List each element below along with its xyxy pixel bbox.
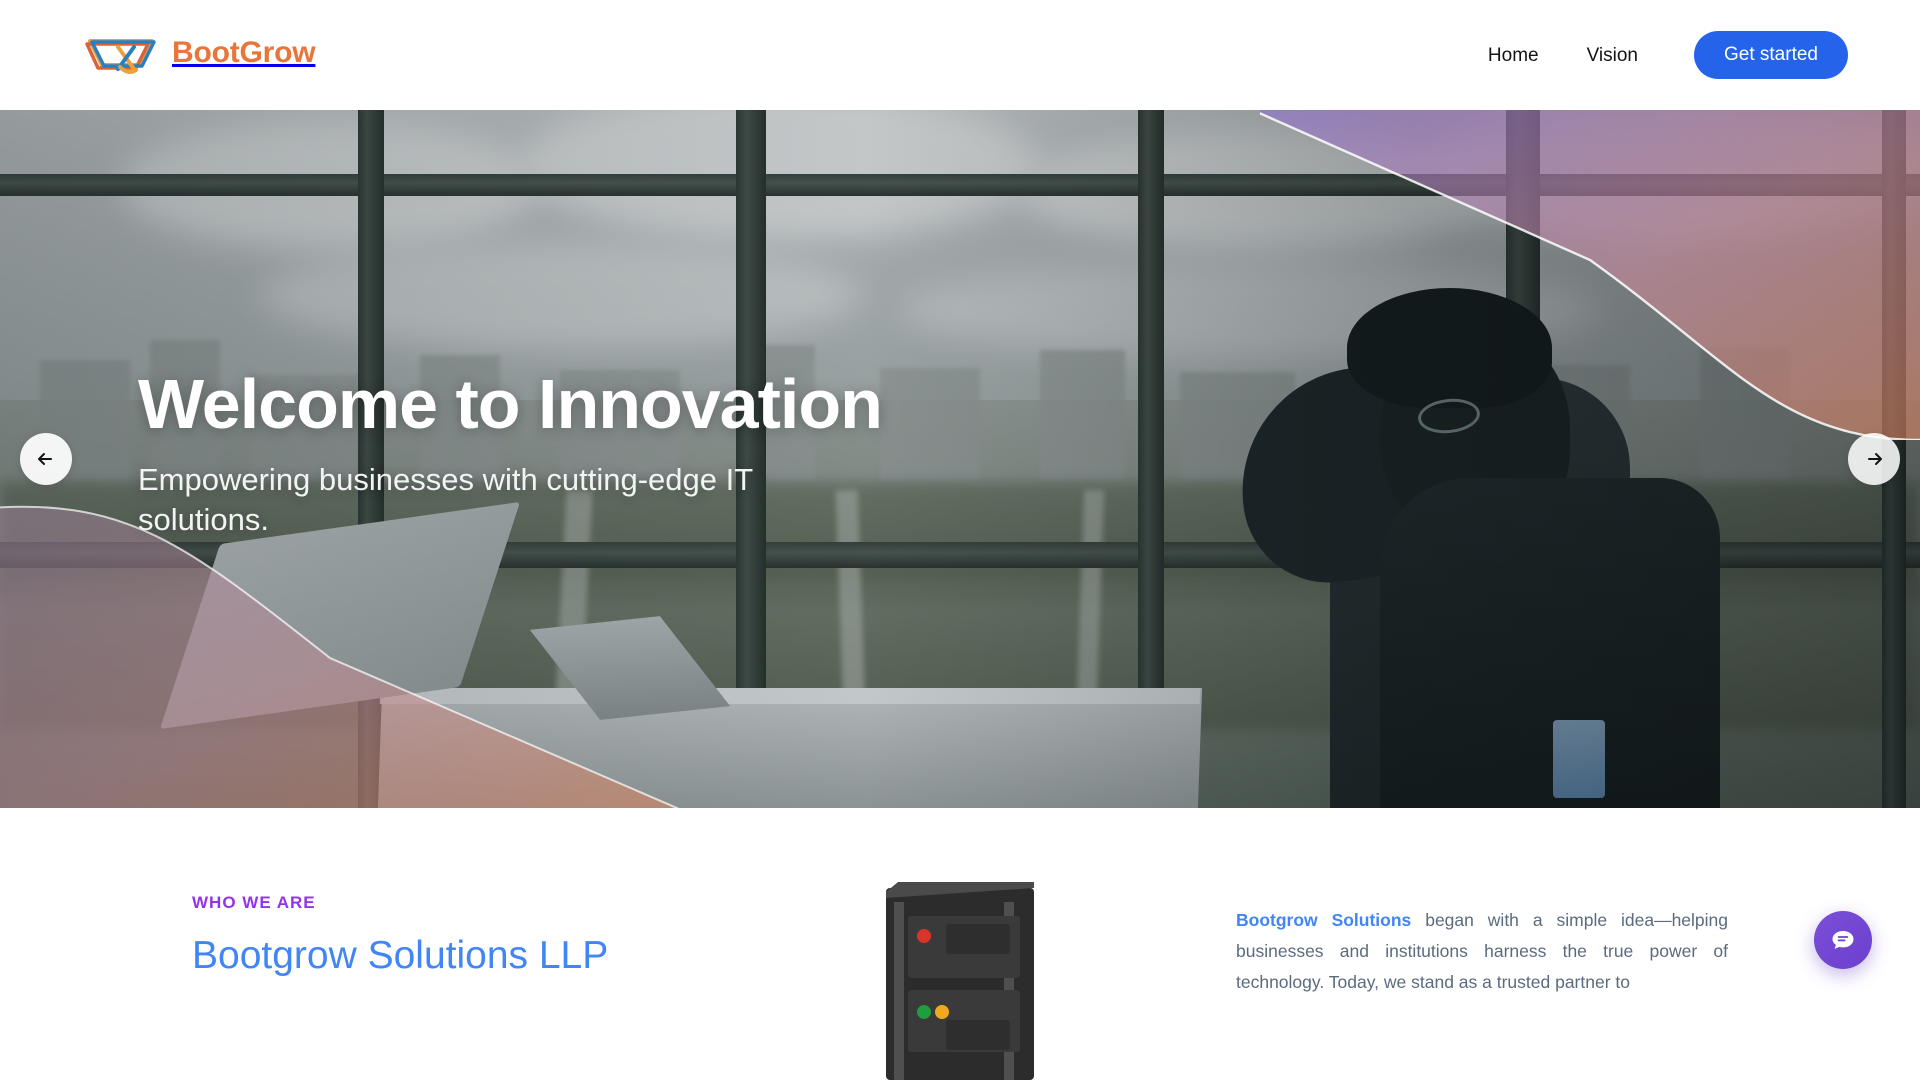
about-eyebrow: WHO WE ARE	[192, 893, 752, 913]
arrow-right-icon	[1861, 446, 1887, 472]
hero-title: Welcome to Innovation	[138, 368, 1038, 442]
nav-link-vision[interactable]: Vision	[1563, 46, 1662, 65]
brand-name: BootGrow	[172, 38, 315, 68]
carousel-prev-button[interactable]	[20, 433, 72, 485]
server-rack-icon	[884, 880, 1036, 1080]
hero-subtitle: Empowering businesses with cutting-edge …	[138, 460, 858, 542]
get-started-button[interactable]: Get started	[1694, 31, 1848, 79]
chat-bubble-icon	[1829, 926, 1857, 954]
about-body-highlight: Bootgrow Solutions	[1236, 910, 1411, 930]
main-navigation: Home Vision Get started	[1464, 0, 1848, 110]
hero-copy: Welcome to Innovation Empowering busines…	[138, 368, 1038, 541]
brand-logo-link[interactable]: BootGrow	[84, 22, 315, 84]
hero-carousel: Welcome to Innovation Empowering busines…	[0, 110, 1920, 808]
nav-link-home[interactable]: Home	[1464, 46, 1563, 65]
carousel-next-button[interactable]	[1848, 433, 1900, 485]
site-header: BootGrow Home Vision Get started	[0, 0, 1920, 110]
about-body-text: Bootgrow Solutions began with a simple i…	[1236, 905, 1728, 998]
chat-widget-button[interactable]	[1814, 911, 1872, 969]
bootgrow-basket-logo-icon	[84, 29, 158, 77]
about-heading-group: WHO WE ARE Bootgrow Solutions LLP	[192, 893, 752, 978]
about-title: Bootgrow Solutions LLP	[192, 935, 752, 978]
arrow-left-icon	[33, 446, 59, 472]
